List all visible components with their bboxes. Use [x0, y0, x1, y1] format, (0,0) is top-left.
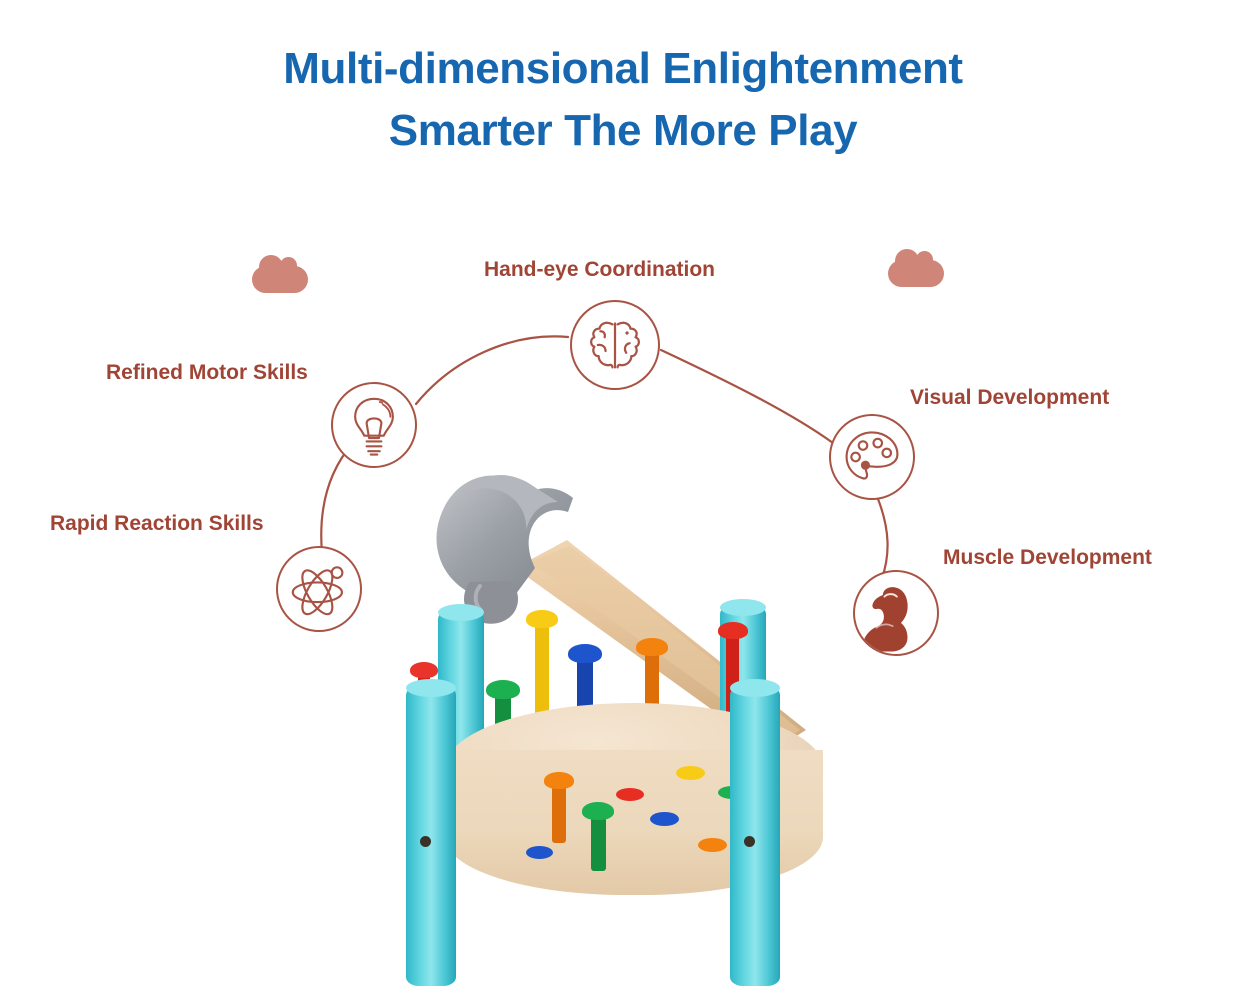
leg-cap: [438, 604, 484, 621]
brain-icon: [572, 302, 658, 388]
peg-red-flush: [616, 788, 644, 801]
screw-left: [420, 836, 431, 847]
leg-cap: [720, 599, 766, 616]
leg-front-right: [730, 686, 780, 986]
feature-label: Refined Motor Skills: [106, 361, 308, 385]
cloud-icon: [888, 260, 944, 287]
feature-label: Muscle Development: [943, 546, 1152, 570]
leg-cap: [730, 679, 780, 697]
feature-icon-circle: [570, 300, 660, 390]
peg-blue-flush-2: [650, 812, 679, 826]
feature-label: Visual Development: [910, 386, 1109, 410]
screw-right: [744, 836, 755, 847]
feature-label: Hand-eye Coordination: [484, 258, 715, 282]
leg-front-left: [406, 686, 456, 986]
cloud-icon: [252, 266, 308, 293]
peg-yellow-flush: [676, 766, 705, 780]
peg-orange-flush: [698, 838, 727, 852]
leg-cap: [406, 679, 456, 697]
title-line-1: Multi-dimensional Enlightenment: [0, 38, 1246, 100]
title-line-2: Smarter The More Play: [0, 100, 1246, 162]
page-title: Multi-dimensional Enlightenment Smarter …: [0, 38, 1246, 162]
feature-label: Rapid Reaction Skills: [50, 512, 264, 536]
wooden-pounding-bench-toy: [330, 450, 950, 1000]
peg-blue-flush: [526, 846, 553, 859]
